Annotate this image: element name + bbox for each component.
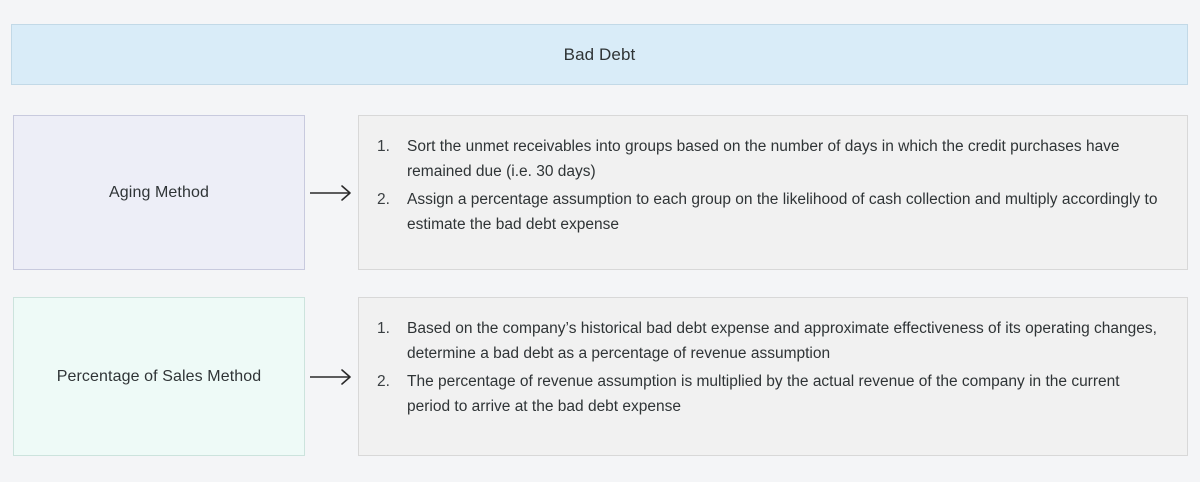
arrow-right-icon	[308, 297, 356, 456]
steps-list-aging: 1. Sort the unmet receivables into group…	[377, 134, 1165, 237]
method-row-aging: Aging Method 1. Sort the unmet receivabl…	[0, 115, 1200, 270]
header-banner: Bad Debt	[11, 24, 1188, 85]
description-box-percentage-of-sales: 1. Based on the company’s historical bad…	[358, 297, 1188, 456]
method-box-percentage-of-sales[interactable]: Percentage of Sales Method	[13, 297, 305, 456]
diagram-canvas: Bad Debt Aging Method 1. Sort the unmet …	[0, 0, 1200, 482]
list-text: The percentage of revenue assumption is …	[407, 369, 1165, 419]
steps-list-percentage-of-sales: 1. Based on the company’s historical bad…	[377, 316, 1165, 419]
list-item: 2. Assign a percentage assumption to eac…	[377, 187, 1165, 237]
description-box-aging: 1. Sort the unmet receivables into group…	[358, 115, 1188, 270]
list-marker: 1.	[377, 316, 407, 341]
list-item: 1. Based on the company’s historical bad…	[377, 316, 1165, 366]
page-title: Bad Debt	[564, 45, 636, 65]
list-marker: 1.	[377, 134, 407, 159]
list-text: Sort the unmet receivables into groups b…	[407, 134, 1165, 184]
list-text: Based on the company’s historical bad de…	[407, 316, 1165, 366]
method-label-aging: Aging Method	[109, 184, 209, 202]
method-label-percentage-of-sales: Percentage of Sales Method	[57, 368, 262, 386]
list-marker: 2.	[377, 187, 407, 212]
list-item: 2. The percentage of revenue assumption …	[377, 369, 1165, 419]
method-box-aging[interactable]: Aging Method	[13, 115, 305, 270]
method-row-percentage-of-sales: Percentage of Sales Method 1. Based on t…	[0, 297, 1200, 456]
arrow-right-icon	[308, 115, 356, 270]
list-marker: 2.	[377, 369, 407, 394]
list-item: 1. Sort the unmet receivables into group…	[377, 134, 1165, 184]
list-text: Assign a percentage assumption to each g…	[407, 187, 1165, 237]
